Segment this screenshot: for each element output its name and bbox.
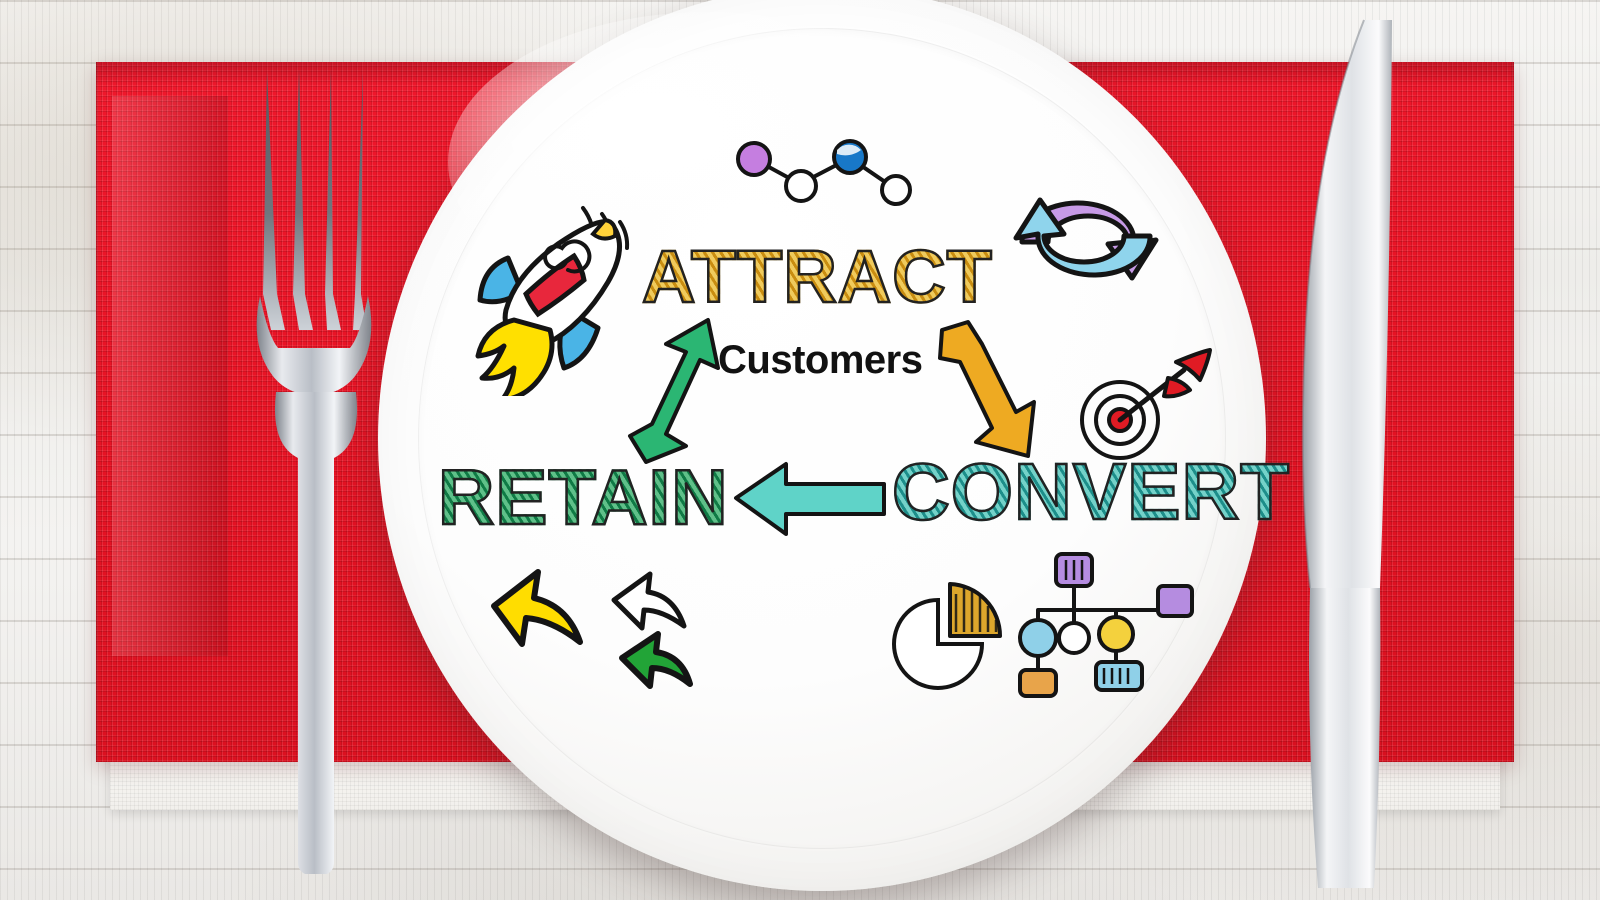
plate-artwork: ATTRACT RETAIN CONVERT Customers	[378, 0, 1266, 891]
arrow-left-retain	[730, 452, 890, 542]
org-chart-icon	[1012, 546, 1212, 701]
step-label-convert: CONVERT	[892, 452, 1290, 532]
napkin-folded-lip	[112, 96, 228, 656]
pie-chart-icon	[872, 574, 1022, 694]
arrow-down-convert	[924, 316, 1044, 466]
step-label-attract: ATTRACT	[642, 240, 993, 314]
refresh-cycle-icon	[992, 164, 1182, 314]
step-label-retain: RETAIN	[438, 458, 729, 536]
network-nodes-icon	[724, 128, 934, 218]
knife-icon	[1268, 0, 1418, 900]
rocket-icon	[450, 186, 650, 396]
scene-root: ATTRACT RETAIN CONVERT Customers	[0, 0, 1600, 900]
center-label-customers: Customers	[718, 338, 922, 383]
arrow-green-icon	[614, 626, 724, 712]
